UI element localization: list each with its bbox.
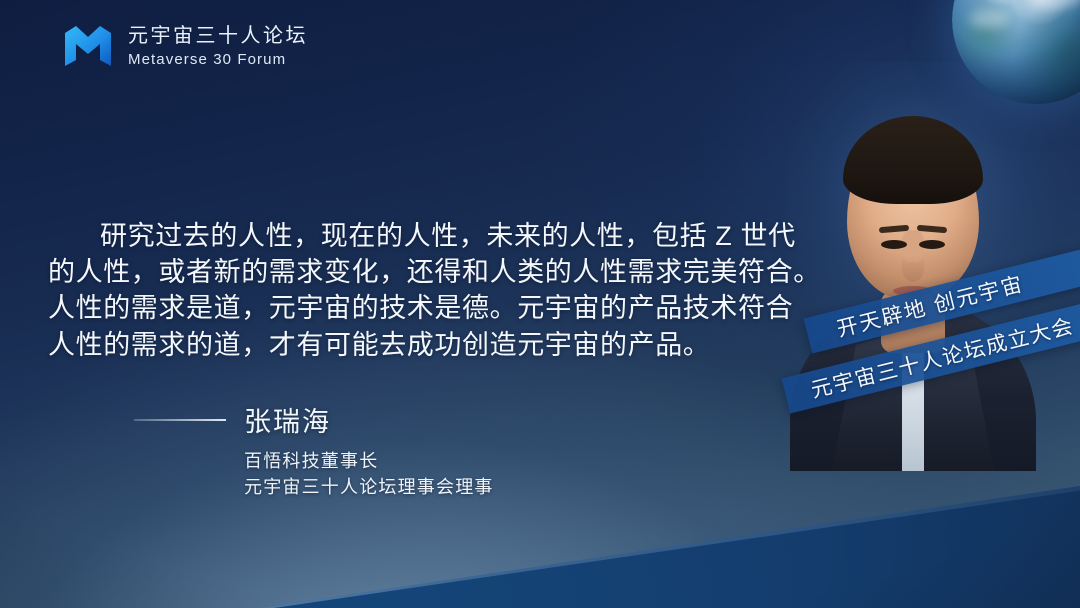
quote-line: 人性的需求的道，才有可能去成功创造元宇宙的产品。 (48, 327, 768, 363)
attribution-rule (134, 419, 226, 421)
quote-line: 的人性，或者新的需求变化，还得和人类的人性需求完美符合。 (48, 254, 768, 290)
quote-text: 研究过去的人性，现在的人性，未来的人性，包括 Z 世代 的人性，或者新的需求变化… (48, 218, 768, 363)
quote-line: 研究过去的人性，现在的人性，未来的人性，包括 Z 世代 (48, 218, 768, 254)
metaverse-m-logo-icon (62, 22, 114, 70)
brand-logo: 元宇宙三十人论坛 Metaverse 30 Forum (62, 22, 308, 70)
speaker-title: 百悟科技董事长 (244, 449, 614, 475)
speaker-titles: 百悟科技董事长 元宇宙三十人论坛理事会理事 (244, 449, 614, 500)
speaker-title: 元宇宙三十人论坛理事会理事 (244, 475, 614, 501)
attribution-name-row: 张瑞海 (134, 400, 614, 439)
speaker-name: 张瑞海 (244, 400, 331, 439)
brand-name-cn: 元宇宙三十人论坛 (128, 26, 308, 46)
brand-logo-text: 元宇宙三十人论坛 Metaverse 30 Forum (128, 26, 308, 67)
brand-name-en: Metaverse 30 Forum (128, 52, 308, 67)
slide-canvas: 元宇宙三十人论坛 Metaverse 30 Forum 开天辟地 创元宇宙 元宇… (0, 0, 1080, 608)
attribution-block: 张瑞海 百悟科技董事长 元宇宙三十人论坛理事会理事 (134, 400, 614, 500)
quote-line: 人性的需求是道，元宇宙的技术是德。元宇宙的产品技术符合 (48, 290, 768, 326)
